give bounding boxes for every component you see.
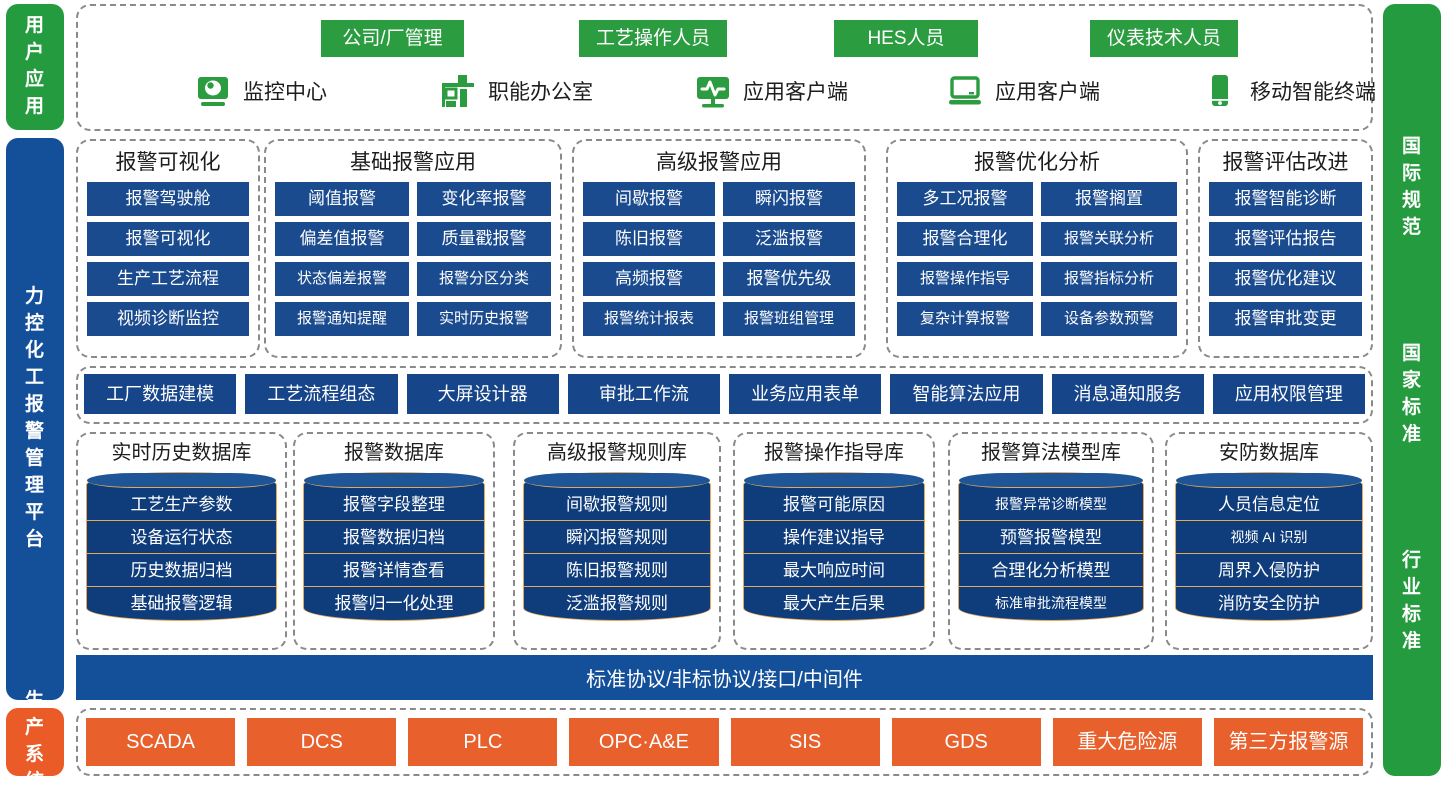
client-terminal-3[interactable]: 应用客户端	[946, 72, 1100, 110]
rail-production-system-label-char-3: 统	[25, 769, 45, 796]
client-terminal-4-label: 移动智能终端	[1250, 76, 1376, 106]
standard-group-1-label-char-0: 国	[1402, 341, 1422, 368]
panel-item-2-5[interactable]: 报警优先级	[723, 262, 855, 296]
panel-item-2-3[interactable]: 泛滥报警	[723, 222, 855, 256]
client-terminal-1-label: 职能办公室	[488, 76, 593, 106]
rail-platform-label-char-8: 平	[25, 500, 45, 527]
panel-item-3-7[interactable]: 设备参数预警	[1041, 302, 1177, 336]
panel-item-1-4[interactable]: 状态偏差报警	[275, 262, 409, 296]
rail-platform-label-char-4: 报	[25, 392, 45, 419]
panel-group-0-title: 报警可视化	[87, 147, 249, 182]
panel-item-2-7[interactable]: 报警班组管理	[723, 302, 855, 336]
rail-production-system-label-char-0: 生	[25, 688, 45, 715]
rail-platform: 力控化工报警管理平台	[6, 138, 64, 700]
panel-item-0-1[interactable]: 报警可视化	[87, 222, 249, 256]
database-item-1-3[interactable]: 报警归一化处理	[304, 587, 484, 620]
production-system-1[interactable]: DCS	[247, 718, 396, 766]
standard-group-2-label-char-1: 业	[1402, 575, 1422, 602]
database-cylinder-5: 人员信息定位视频 AI 识别周界入侵防护消防安全防护	[1175, 472, 1363, 621]
rail-production-system-label-char-2: 系	[25, 742, 45, 769]
database-item-0-0[interactable]: 工艺生产参数	[87, 488, 276, 521]
panel-group-2: 高级报警应用间歇报警瞬闪报警陈旧报警泛滥报警高频报警报警优先级报警统计报表报警班…	[572, 139, 866, 358]
panel-item-1-6[interactable]: 报警通知提醒	[275, 302, 409, 336]
panel-item-1-3[interactable]: 质量戳报警	[417, 222, 551, 256]
rail-standards: 国际规范国家标准行业标准	[1383, 4, 1441, 776]
rail-platform-label-char-5: 警	[25, 419, 45, 446]
standard-group-2: 行业标准	[1402, 548, 1422, 656]
database-item-5-1[interactable]: 视频 AI 识别	[1176, 521, 1362, 554]
production-system-0[interactable]: SCADA	[86, 718, 235, 766]
database-group-3: 报警操作指导库报警可能原因操作建议指导最大响应时间最大产生后果	[733, 432, 935, 650]
database-item-0-2[interactable]: 历史数据归档	[87, 554, 276, 587]
panel-item-0-2[interactable]: 生产工艺流程	[87, 262, 249, 296]
panel-group-1-items: 阈值报警变化率报警偏差值报警质量戳报警状态偏差报警报警分区分类报警通知提醒实时历…	[275, 182, 551, 336]
database-group-3-title: 报警操作指导库	[743, 438, 925, 472]
panel-item-4-3[interactable]: 报警审批变更	[1209, 302, 1362, 336]
standard-group-1-label-char-1: 家	[1402, 368, 1422, 395]
database-group-5: 安防数据库人员信息定位视频 AI 识别周界入侵防护消防安全防护	[1165, 432, 1373, 650]
panel-item-1-0[interactable]: 阈值报警	[275, 182, 409, 216]
database-cylinder-0-top	[87, 473, 276, 488]
rail-platform-label-char-6: 管	[25, 446, 45, 473]
panel-item-3-3[interactable]: 报警关联分析	[1041, 222, 1177, 256]
laptop-icon	[946, 72, 984, 110]
database-item-5-0[interactable]: 人员信息定位	[1176, 488, 1362, 521]
database-cylinder-5-top	[1176, 473, 1362, 488]
production-system-6[interactable]: 重大危险源	[1053, 718, 1202, 766]
database-item-2-3[interactable]: 泛滥报警规则	[524, 587, 710, 620]
database-item-2-1[interactable]: 瞬闪报警规则	[524, 521, 710, 554]
panel-item-4-2[interactable]: 报警优化建议	[1209, 262, 1362, 296]
panel-item-4-0[interactable]: 报警智能诊断	[1209, 182, 1362, 216]
standard-group-0: 国际规范	[1402, 134, 1422, 242]
client-terminal-1[interactable]: 职能办公室	[439, 72, 593, 110]
database-group-4-title: 报警算法模型库	[958, 438, 1144, 472]
client-terminal-0-label: 监控中心	[243, 76, 327, 106]
standard-group-2-label-char-3: 准	[1402, 629, 1422, 656]
database-cylinder-3: 报警可能原因操作建议指导最大响应时间最大产生后果	[743, 472, 925, 621]
client-terminal-4[interactable]: 移动智能终端	[1201, 72, 1376, 110]
panel-item-2-0[interactable]: 间歇报警	[583, 182, 715, 216]
panel-group-0-items: 报警驾驶舱报警可视化生产工艺流程视频诊断监控	[87, 182, 249, 336]
panel-item-2-2[interactable]: 陈旧报警	[583, 222, 715, 256]
standard-group-1-label-char-3: 准	[1402, 422, 1422, 449]
production-systems-list: SCADADCSPLCOPC·A&ESISGDS重大危险源第三方报警源	[86, 718, 1363, 766]
database-item-1-1[interactable]: 报警数据归档	[304, 521, 484, 554]
panel-group-4-title: 报警评估改进	[1209, 147, 1362, 182]
monitor-pulse-icon	[694, 72, 732, 110]
database-item-3-3[interactable]: 最大产生后果	[744, 587, 924, 620]
platform-service-4[interactable]: 业务应用表单	[729, 374, 881, 414]
rail-user-application-label-char-2: 应	[25, 67, 45, 94]
rail-user-application-label-char-3: 用	[25, 94, 45, 121]
rail-platform-label-char-7: 理	[25, 473, 45, 500]
panel-item-0-3[interactable]: 视频诊断监控	[87, 302, 249, 336]
database-item-4-1[interactable]: 预警报警模型	[959, 521, 1143, 554]
client-terminal-2[interactable]: 应用客户端	[694, 72, 848, 110]
database-item-2-0[interactable]: 间歇报警规则	[524, 488, 710, 521]
database-group-0: 实时历史数据库工艺生产参数设备运行状态历史数据归档基础报警逻辑	[76, 432, 287, 650]
role-tag-0[interactable]: 公司/厂管理	[321, 20, 464, 57]
client-terminal-0[interactable]: 监控中心	[194, 72, 327, 110]
architecture-diagram: 用户应用 力控化工报警管理平台 生产系统 国际规范国家标准行业标准 公司/厂管理…	[0, 0, 1447, 782]
database-cylinder-1: 报警字段整理报警数据归档报警详情查看报警归一化处理	[303, 472, 485, 621]
platform-service-7[interactable]: 应用权限管理	[1213, 374, 1365, 414]
production-system-4[interactable]: SIS	[731, 718, 880, 766]
platform-service-3[interactable]: 审批工作流	[568, 374, 720, 414]
database-item-3-1[interactable]: 操作建议指导	[744, 521, 924, 554]
standard-group-0-label-char-0: 国	[1402, 134, 1422, 161]
platform-service-2[interactable]: 大屏设计器	[407, 374, 559, 414]
standard-group-2-label-char-0: 行	[1402, 548, 1422, 575]
database-cylinder-2-top	[524, 473, 710, 488]
database-group-5-title: 安防数据库	[1175, 438, 1363, 472]
database-cylinder-4-top	[959, 473, 1143, 488]
standard-group-0-label-char-2: 规	[1402, 188, 1422, 215]
standard-group-2-label-char-2: 标	[1402, 602, 1422, 629]
database-item-5-2[interactable]: 周界入侵防护	[1176, 554, 1362, 587]
panel-item-3-0[interactable]: 多工况报警	[897, 182, 1033, 216]
panel-group-1-title: 基础报警应用	[275, 147, 551, 182]
platform-service-1[interactable]: 工艺流程组态	[245, 374, 397, 414]
production-system-5[interactable]: GDS	[892, 718, 1041, 766]
rail-user-application-label-char-0: 用	[25, 13, 45, 40]
monitor-eye-icon	[194, 72, 232, 110]
standard-group-0-label-char-3: 范	[1402, 215, 1422, 242]
client-terminal-3-label: 应用客户端	[995, 76, 1100, 106]
production-system-3[interactable]: OPC·A&E	[569, 718, 718, 766]
database-item-1-2[interactable]: 报警详情查看	[304, 554, 484, 587]
database-item-5-3[interactable]: 消防安全防护	[1176, 587, 1362, 620]
panel-group-3-items: 多工况报警报警搁置报警合理化报警关联分析报警操作指导报警指标分析复杂计算报警设备…	[897, 182, 1177, 336]
rail-platform-label-char-1: 控	[25, 311, 45, 338]
rail-platform-label-char-0: 力	[25, 284, 45, 311]
standard-group-1-label-char-2: 标	[1402, 395, 1422, 422]
role-tag-3[interactable]: 仪表技术人员	[1090, 20, 1238, 57]
panel-group-1: 基础报警应用阈值报警变化率报警偏差值报警质量戳报警状态偏差报警报警分区分类报警通…	[264, 139, 562, 358]
protocol-bar-label: 标准协议/非标协议/接口/中间件	[586, 663, 863, 692]
database-group-2-title: 高级报警规则库	[523, 438, 711, 472]
database-item-3-2[interactable]: 最大响应时间	[744, 554, 924, 587]
panel-item-3-4[interactable]: 报警操作指导	[897, 262, 1033, 296]
platform-services-list: 工厂数据建模工艺流程组态大屏设计器审批工作流业务应用表单智能算法应用消息通知服务…	[84, 374, 1365, 414]
panel-item-3-5[interactable]: 报警指标分析	[1041, 262, 1177, 296]
platform-service-5[interactable]: 智能算法应用	[890, 374, 1042, 414]
rail-platform-label-char-3: 工	[25, 365, 45, 392]
protocol-bar: 标准协议/非标协议/接口/中间件	[76, 655, 1373, 700]
rail-production-system-label: 生产系统	[25, 688, 45, 796]
panel-item-1-2[interactable]: 偏差值报警	[275, 222, 409, 256]
mobile-phone-icon	[1201, 72, 1239, 110]
rail-user-application-label: 用户应用	[25, 13, 45, 121]
database-item-4-3[interactable]: 标准审批流程模型	[959, 587, 1143, 620]
panel-group-3-title: 报警优化分析	[897, 147, 1177, 182]
database-item-0-3[interactable]: 基础报警逻辑	[87, 587, 276, 620]
panel-group-4-items: 报警智能诊断报警评估报告报警优化建议报警审批变更	[1209, 182, 1362, 336]
panel-item-1-1[interactable]: 变化率报警	[417, 182, 551, 216]
rail-user-application-label-char-1: 户	[25, 40, 45, 67]
database-cylinder-0: 工艺生产参数设备运行状态历史数据归档基础报警逻辑	[86, 472, 277, 621]
database-group-1: 报警数据库报警字段整理报警数据归档报警详情查看报警归一化处理	[293, 432, 495, 650]
panel-group-4: 报警评估改进报警智能诊断报警评估报告报警优化建议报警审批变更	[1198, 139, 1373, 358]
panel-item-1-5[interactable]: 报警分区分类	[417, 262, 551, 296]
panel-group-2-items: 间歇报警瞬闪报警陈旧报警泛滥报警高频报警报警优先级报警统计报表报警班组管理	[583, 182, 855, 336]
panel-item-3-6[interactable]: 复杂计算报警	[897, 302, 1033, 336]
office-building-icon	[439, 72, 477, 110]
panel-item-3-1[interactable]: 报警搁置	[1041, 182, 1177, 216]
platform-service-6[interactable]: 消息通知服务	[1052, 374, 1204, 414]
panel-group-3: 报警优化分析多工况报警报警搁置报警合理化报警关联分析报警操作指导报警指标分析复杂…	[886, 139, 1188, 358]
rail-user-application: 用户应用	[6, 4, 64, 130]
database-cylinder-2: 间歇报警规则瞬闪报警规则陈旧报警规则泛滥报警规则	[523, 472, 711, 621]
rail-platform-label-char-2: 化	[25, 338, 45, 365]
database-group-2: 高级报警规则库间歇报警规则瞬闪报警规则陈旧报警规则泛滥报警规则	[513, 432, 721, 650]
panel-group-2-title: 高级报警应用	[583, 147, 855, 182]
standard-group-0-label-char-1: 际	[1402, 161, 1422, 188]
standard-group-1: 国家标准	[1402, 341, 1422, 449]
platform-service-0[interactable]: 工厂数据建模	[84, 374, 236, 414]
production-system-7[interactable]: 第三方报警源	[1214, 718, 1363, 766]
database-group-1-title: 报警数据库	[303, 438, 485, 472]
panel-group-0: 报警可视化报警驾驶舱报警可视化生产工艺流程视频诊断监控	[76, 139, 260, 358]
database-group-4: 报警算法模型库报警异常诊断模型预警报警模型合理化分析模型标准审批流程模型	[948, 432, 1154, 650]
rail-platform-label: 力控化工报警管理平台	[25, 284, 45, 554]
database-group-0-title: 实时历史数据库	[86, 438, 277, 472]
panel-item-2-1[interactable]: 瞬闪报警	[723, 182, 855, 216]
panel-item-2-6[interactable]: 报警统计报表	[583, 302, 715, 336]
database-item-2-2[interactable]: 陈旧报警规则	[524, 554, 710, 587]
panel-item-1-7[interactable]: 实时历史报警	[417, 302, 551, 336]
database-cylinder-4: 报警异常诊断模型预警报警模型合理化分析模型标准审批流程模型	[958, 472, 1144, 621]
panel-item-2-4[interactable]: 高频报警	[583, 262, 715, 296]
rail-production-system-label-char-1: 产	[25, 715, 45, 742]
database-cylinder-3-top	[744, 473, 924, 488]
database-cylinder-1-top	[304, 473, 484, 488]
rail-production-system: 生产系统	[6, 708, 64, 776]
production-system-2[interactable]: PLC	[408, 718, 557, 766]
database-item-1-0[interactable]: 报警字段整理	[304, 488, 484, 521]
database-item-4-2[interactable]: 合理化分析模型	[959, 554, 1143, 587]
database-item-0-1[interactable]: 设备运行状态	[87, 521, 276, 554]
panel-item-0-0[interactable]: 报警驾驶舱	[87, 182, 249, 216]
database-item-4-0[interactable]: 报警异常诊断模型	[959, 488, 1143, 521]
rail-platform-label-char-9: 台	[25, 527, 45, 554]
panel-item-3-2[interactable]: 报警合理化	[897, 222, 1033, 256]
database-item-3-0[interactable]: 报警可能原因	[744, 488, 924, 521]
panel-item-4-1[interactable]: 报警评估报告	[1209, 222, 1362, 256]
role-tag-1[interactable]: 工艺操作人员	[579, 20, 727, 57]
client-terminal-2-label: 应用客户端	[743, 76, 848, 106]
role-tag-2[interactable]: HES人员	[834, 20, 978, 57]
